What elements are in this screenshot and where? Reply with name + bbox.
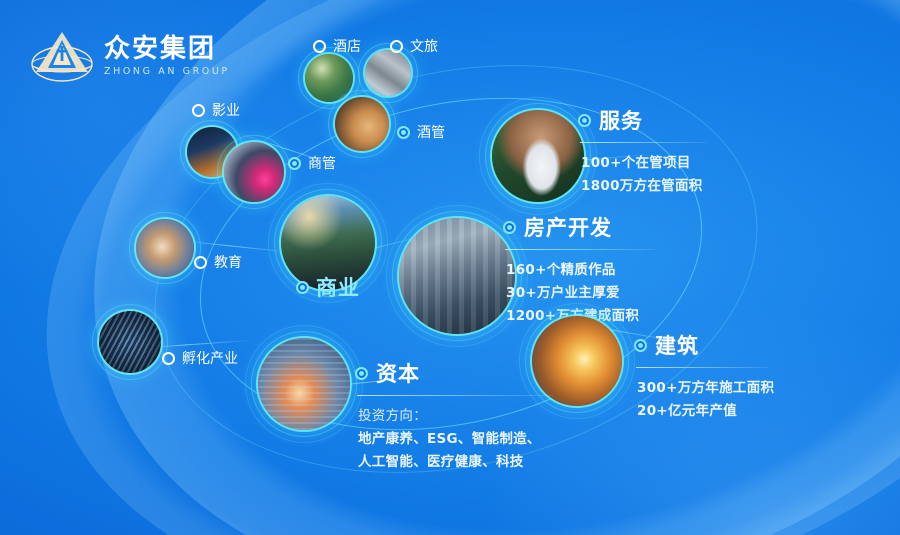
stat-line: 30+万户业主厚爱 [506, 281, 655, 301]
info-lines: 300+万方年施工面积 20+亿元年产值 [634, 376, 774, 419]
label-text: 影业 [212, 100, 240, 120]
label-text: 酒管 [417, 122, 445, 142]
townscape-photo-icon [365, 50, 411, 96]
label-text: 孵化产业 [182, 348, 238, 368]
divider [636, 367, 768, 368]
node-capital[interactable] [258, 338, 350, 430]
node-service[interactable] [492, 110, 584, 202]
node-culture[interactable] [365, 50, 411, 96]
city-skyline-photo-icon [399, 218, 515, 334]
stat-line: 投资方向： [358, 404, 553, 424]
stat-line: 20+亿元年产值 [637, 399, 774, 419]
stat-line: 160+个精质作品 [506, 258, 655, 278]
divider [580, 142, 706, 143]
stat-line: 地产康养、ESG、智能制造、 [358, 427, 553, 447]
stat-line: 300+万方年施工面积 [637, 376, 774, 396]
bullet-dot-icon [288, 157, 301, 170]
info-construction: 建筑 300+万方年施工面积 20+亿元年产值 [634, 330, 774, 419]
info-head[interactable]: 房产开发 [503, 212, 655, 242]
digital-city-photo-icon [258, 338, 350, 430]
mountain-globe-logo-icon [30, 26, 94, 86]
info-capital: 资本 投资方向： 地产康养、ESG、智能制造、 人工智能、医疗健康、科技 [355, 358, 553, 470]
brand-name-cn: 众安集团 [104, 36, 230, 62]
node-real-estate[interactable] [399, 218, 515, 334]
service-staff-photo-icon [492, 110, 584, 202]
brand-logo[interactable]: 众安集团 ZHONG AN GROUP [30, 26, 230, 86]
label-education[interactable]: 教育 [194, 252, 242, 272]
bullet-dot-icon [194, 256, 207, 269]
info-service: 服务 100+个在管项目 1800万方在管面积 [578, 105, 706, 194]
bullet-dot-icon [192, 104, 205, 117]
label-film[interactable]: 影业 [192, 100, 240, 120]
label-incubation[interactable]: 孵化产业 [162, 348, 238, 368]
divider [505, 249, 655, 250]
node-hotel-management[interactable] [335, 97, 389, 151]
bullet-dot-icon [162, 352, 175, 365]
label-culture[interactable]: 文旅 [390, 36, 438, 56]
info-lines: 100+个在管项目 1800万方在管面积 [578, 151, 706, 194]
bullet-dot-icon [296, 281, 309, 294]
bullet-dot-icon [634, 339, 647, 352]
info-lines: 投资方向： 地产康养、ESG、智能制造、 人工智能、医疗健康、科技 [355, 404, 553, 470]
shopping-mall-photo-icon [224, 142, 284, 202]
stat-line: 人工智能、医疗健康、科技 [358, 450, 553, 470]
info-head[interactable]: 服务 [578, 105, 706, 135]
hotel-lobby-photo-icon [335, 97, 389, 151]
bullet-dot-icon [355, 367, 368, 380]
label-text: 教育 [214, 252, 242, 272]
brand-name-en: ZHONG AN GROUP [104, 67, 230, 77]
divider [357, 395, 553, 396]
label-hotel[interactable]: 酒店 [313, 36, 361, 56]
bullet-dot-icon [578, 114, 591, 127]
label-commerce[interactable]: 商业 [296, 272, 360, 302]
bullet-dot-icon [397, 126, 410, 139]
bullet-dot-icon [503, 221, 516, 234]
pillar-title: 房产开发 [524, 212, 612, 242]
bullet-dot-icon [390, 40, 403, 53]
circuit-board-photo-icon [99, 311, 161, 373]
node-mall-management[interactable] [224, 142, 284, 202]
info-head[interactable]: 资本 [355, 358, 553, 388]
pillar-title: 建筑 [655, 330, 699, 360]
label-text: 文旅 [410, 36, 438, 56]
node-education[interactable] [136, 219, 194, 277]
stat-line: 100+个在管项目 [581, 151, 706, 171]
classroom-photo-icon [136, 219, 194, 277]
bullet-dot-icon [313, 40, 326, 53]
business-map-canvas: 众安集团 ZHONG AN GROUP 酒店 文旅 酒管 影业 [0, 0, 900, 535]
pillar-title: 服务 [599, 105, 643, 135]
label-text: 酒店 [333, 36, 361, 56]
info-head[interactable]: 建筑 [634, 330, 774, 360]
label-text: 商管 [308, 153, 336, 173]
stat-line: 1800万方在管面积 [581, 174, 706, 194]
label-text: 商业 [316, 272, 360, 302]
label-mall-management[interactable]: 商管 [288, 153, 336, 173]
pillar-title: 资本 [376, 358, 420, 388]
label-hotel-management[interactable]: 酒管 [397, 122, 445, 142]
node-incubation[interactable] [99, 311, 161, 373]
